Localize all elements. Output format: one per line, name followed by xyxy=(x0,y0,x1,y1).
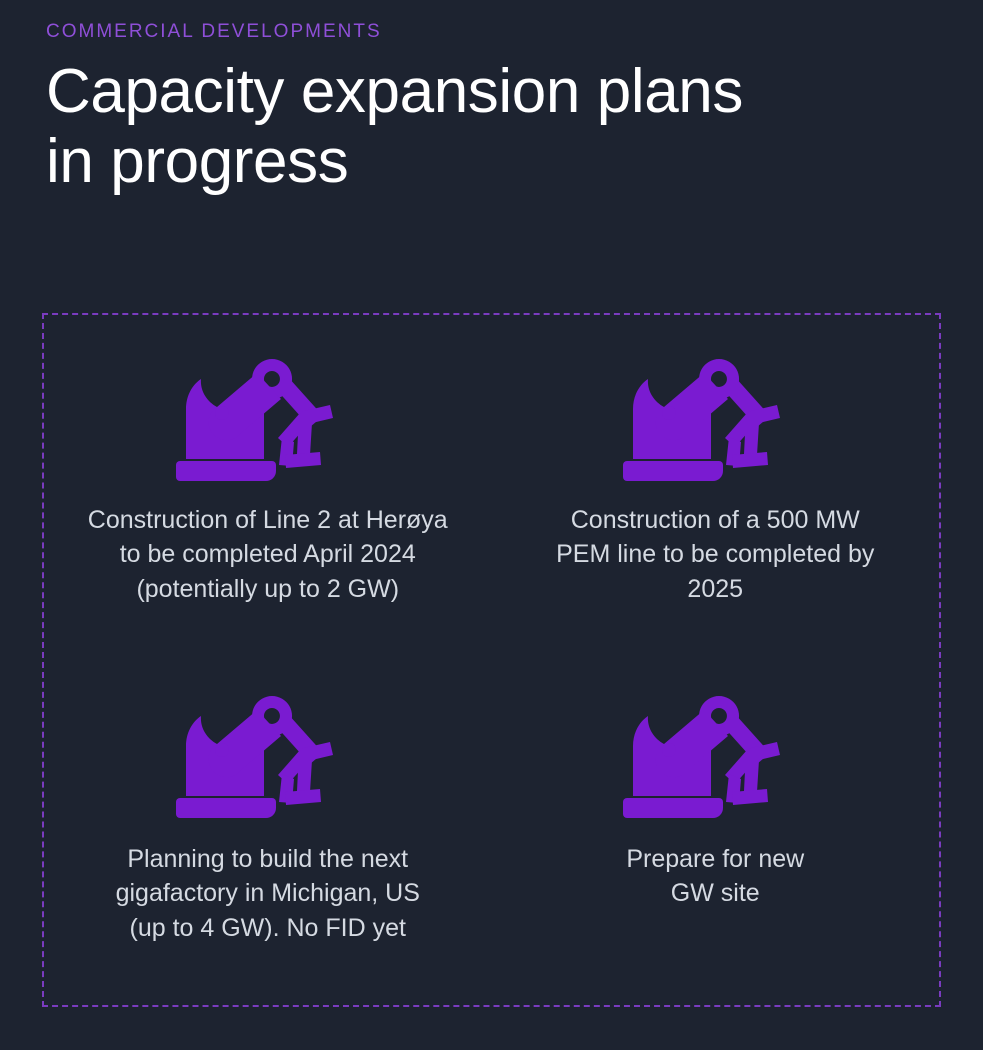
robot-arm-icon xyxy=(620,688,810,828)
card-caption: Construction of a 500 MW PEM line to be … xyxy=(556,503,874,606)
card-item: Planning to build the next gigafactory i… xyxy=(44,660,492,1005)
slide-root: COMMERCIAL DEVELOPMENTS Capacity expansi… xyxy=(0,0,983,1050)
slide-header: COMMERCIAL DEVELOPMENTS Capacity expansi… xyxy=(46,22,926,197)
robot-arm-icon xyxy=(620,351,810,491)
robot-arm-icon xyxy=(173,688,363,828)
page-title-line-1: Capacity expansion plans xyxy=(46,57,926,127)
card-caption: Construction of Line 2 at Herøya to be c… xyxy=(88,503,448,606)
page-title-line-2: in progress xyxy=(46,127,926,197)
card-caption: Prepare for new GW site xyxy=(626,842,804,911)
card-caption: Planning to build the next gigafactory i… xyxy=(116,842,420,945)
card-item: Construction of a 500 MW PEM line to be … xyxy=(492,315,940,660)
dashed-content-panel: Construction of Line 2 at Herøya to be c… xyxy=(42,313,941,1007)
robot-arm-icon xyxy=(173,351,363,491)
page-title: Capacity expansion plans in progress xyxy=(46,57,926,197)
card-item: Prepare for new GW site xyxy=(492,660,940,1005)
card-item: Construction of Line 2 at Herøya to be c… xyxy=(44,315,492,660)
eyebrow-label: COMMERCIAL DEVELOPMENTS xyxy=(46,22,926,43)
card-grid: Construction of Line 2 at Herøya to be c… xyxy=(44,315,939,1005)
